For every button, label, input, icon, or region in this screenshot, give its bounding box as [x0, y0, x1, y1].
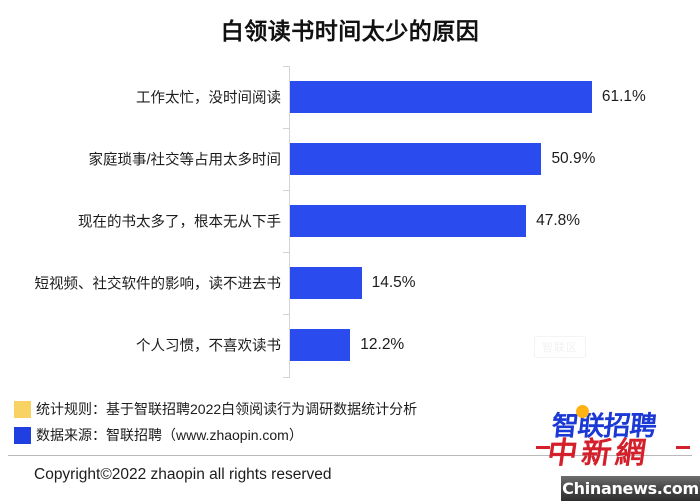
legend-label: 统计规则：基于智联招聘2022白领阅读行为调研数据统计分析: [36, 399, 417, 419]
copyright-text: Copyright©2022 zhaopin all rights reserv…: [34, 466, 331, 484]
bar-row: 现在的书太多了，根本无从下手 47.8%: [0, 190, 700, 252]
bar-category-label: 个人习惯，不喜欢读书: [136, 335, 281, 356]
chart-legend: 统计规则：基于智联招聘2022白领阅读行为调研数据统计分析 数据来源：智联招聘（…: [14, 396, 554, 448]
bar-value-label: 47.8%: [536, 212, 580, 230]
bar-row: 家庭琐事/社交等占用太多时间 50.9%: [0, 128, 700, 190]
axis-tick: [283, 377, 289, 378]
bar[interactable]: [290, 267, 362, 299]
chinanews-banner: Chinanews.com: [561, 476, 700, 501]
legend-swatch-yellow-icon: [14, 401, 31, 418]
bar-chart: 工作太忙，没时间阅读 61.1% 家庭琐事/社交等占用太多时间 50.9% 现在…: [0, 66, 700, 378]
bar[interactable]: [290, 143, 541, 175]
zhaopin-logo-dot-icon: [576, 405, 589, 418]
bar-row: 短视频、社交软件的影响，读不进去书 14.5%: [0, 252, 700, 314]
legend-item-data-source: 数据来源：智联招聘（www.zhaopin.com）: [14, 422, 554, 448]
bar-wrap: 14.5%: [290, 267, 416, 299]
bar-value-label: 50.9%: [551, 150, 595, 168]
bar-category-label: 现在的书太多了，根本无从下手: [78, 211, 281, 232]
legend-item-statistics-rule: 统计规则：基于智联招聘2022白领阅读行为调研数据统计分析: [14, 396, 554, 422]
bar-value-label: 14.5%: [372, 274, 416, 292]
bar-wrap: 50.9%: [290, 143, 595, 175]
bar-category-label: 工作太忙，没时间阅读: [136, 87, 281, 108]
bar-wrap: 61.1%: [290, 81, 646, 113]
chart-watermark: 智联区: [534, 336, 586, 358]
page-title: 白领读书时间太少的原因: [0, 12, 700, 46]
bar-wrap: 47.8%: [290, 205, 580, 237]
bar-wrap: 12.2%: [290, 329, 404, 361]
bar-category-label: 家庭琐事/社交等占用太多时间: [88, 149, 281, 170]
bar[interactable]: [290, 329, 350, 361]
chinanews-logo-dash-icon: [676, 446, 690, 449]
legend-label: 数据来源：智联招聘（www.zhaopin.com）: [36, 425, 303, 445]
bar[interactable]: [290, 81, 592, 113]
bar[interactable]: [290, 205, 526, 237]
bar-row: 个人习惯，不喜欢读书 12.2%: [0, 314, 700, 376]
bar-value-label: 12.2%: [360, 336, 404, 354]
legend-swatch-blue-icon: [14, 427, 31, 444]
bar-category-label: 短视频、社交软件的影响，读不进去书: [35, 273, 282, 294]
chinanews-logo-cn: 中新網: [545, 428, 653, 472]
bar-row: 工作太忙，没时间阅读 61.1%: [0, 66, 700, 128]
bar-value-label: 61.1%: [602, 88, 646, 106]
chinanews-banner-text: Chinanews.com: [562, 479, 699, 498]
